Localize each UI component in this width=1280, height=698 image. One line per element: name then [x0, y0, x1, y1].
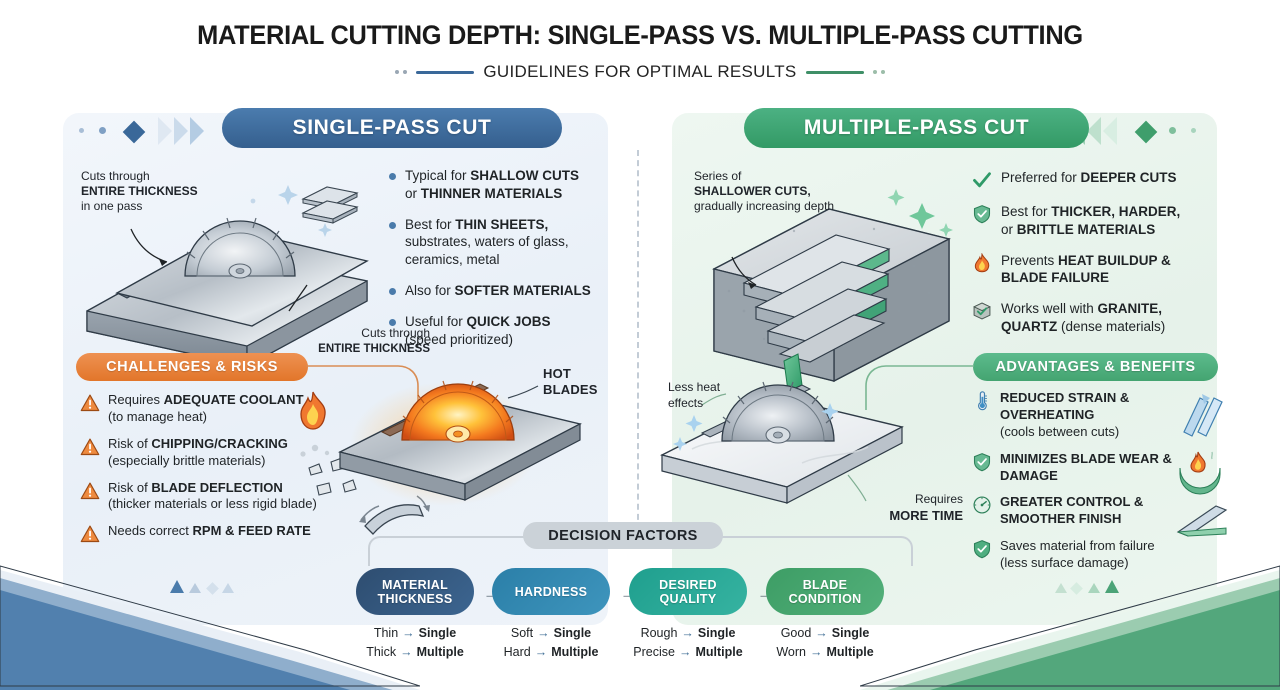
list-item: Typical for SHALLOW CUTS or THINNER MATE… [389, 167, 594, 203]
subtitle-dots-left [395, 70, 407, 74]
shield-check-icon [972, 204, 992, 224]
gauge-icon [972, 495, 992, 515]
factor-pill[interactable]: HARDNESS [492, 568, 610, 615]
subtitle-rule-right [806, 71, 864, 74]
callout-shallower-cuts: Series of SHALLOWER CUTS, gradually incr… [694, 169, 854, 214]
flame-icon [296, 390, 330, 432]
list-item: Best for THICKER, HARDER, or BRITTLE MAT… [972, 203, 1212, 239]
factor-pill[interactable]: BLADE CONDITION [766, 568, 884, 615]
multiple-pass-bullet-list: Preferred for DEEPER CUTS Best for THICK… [972, 169, 1212, 349]
warning-triangle-icon [80, 481, 100, 501]
decision-factor-blade-condition[interactable]: BLADE CONDITION Good→Single Worn→Multipl… [766, 568, 884, 663]
list-item: Useful for QUICK JOBS (speed prioritized… [389, 313, 594, 349]
multiple-pass-header: MULTIPLE-PASS CUT [744, 108, 1089, 148]
triangle-decor-right [1055, 580, 1119, 593]
diamond-decor-right [1135, 121, 1158, 144]
single-pass-bullet-list: Typical for SHALLOW CUTS or THINNER MATE… [389, 167, 594, 362]
dot-decor-left-2 [79, 128, 84, 133]
bullet-dot-icon [389, 288, 396, 295]
factor-rows: Thin→Single Thick→Multiple [356, 624, 474, 663]
bullet-dot-icon [389, 222, 396, 229]
dot-decor-left-1 [99, 127, 106, 134]
shield-check-icon [972, 539, 992, 559]
single-pass-header: SINGLE-PASS CUT [222, 108, 562, 148]
callout-less-heat: Less heat effects [668, 380, 748, 411]
callout-hot-blades: HOT BLADES [543, 366, 623, 399]
bullet-dot-icon [389, 173, 396, 180]
dot-decor-right-1 [1169, 127, 1176, 134]
bullet-dot-icon [389, 319, 396, 326]
subtitle-row: GUIDELINES FOR OPTIMAL RESULTS [0, 62, 1280, 82]
list-item: REDUCED STRAIN & OVERHEATING (cools betw… [972, 390, 1187, 441]
subtitle-dots-right [873, 70, 885, 74]
smooth-finish-icon [1176, 502, 1228, 538]
list-item: Prevents HEAT BUILDUP & BLADE FAILURE [972, 252, 1212, 288]
list-item: Works well with GRANITE, QUARTZ (dense m… [972, 300, 1212, 336]
factor-rows: Good→Single Worn→Multiple [766, 624, 884, 663]
check-mark-icon [972, 170, 992, 190]
decision-factors-block: DECISION FACTORS MATERIAL THICKNESS Thin… [350, 518, 930, 678]
warning-triangle-icon [80, 437, 100, 457]
decision-factor-hardness[interactable]: HARDNESS Soft→Single Hard→Multiple [492, 568, 610, 663]
factor-rows: Soft→Single Hard→Multiple [492, 624, 610, 663]
diamond-decor-left [123, 121, 146, 144]
callout-cuts-through-top: Cuts through ENTIRE THICKNESS in one pas… [81, 169, 211, 214]
cool-blades-icon [1178, 390, 1224, 442]
decision-factor-desired-quality[interactable]: DESIRED QUALITY Rough→Single Precise→Mul… [629, 568, 747, 663]
triangle-decor-left [170, 580, 234, 593]
advantages-benefits-title: ADVANTAGES & BENEFITS [973, 353, 1218, 381]
list-item: GREATER CONTROL & SMOOTHER FINISH [972, 494, 1187, 528]
page-subtitle: GUIDELINES FOR OPTIMAL RESULTS [483, 62, 796, 82]
warning-triangle-icon [80, 393, 100, 413]
warning-triangle-icon [80, 524, 100, 544]
decision-factor-material-thickness[interactable]: MATERIAL THICKNESS Thin→Single Thick→Mul… [356, 568, 474, 663]
challenges-risks-title: CHALLENGES & RISKS [76, 353, 308, 381]
dot-decor-right-2 [1191, 128, 1196, 133]
shield-check-icon [972, 452, 992, 472]
decision-factors-title: DECISION FACTORS [523, 522, 723, 549]
no-overheat-icon [1176, 450, 1224, 496]
center-divider [637, 150, 639, 530]
list-item: MINIMIZES BLADE WEAR & DAMAGE [972, 451, 1187, 485]
advantages-list: REDUCED STRAIN & OVERHEATING (cools betw… [972, 390, 1187, 582]
subtitle-rule-left [416, 71, 474, 74]
factor-rows: Rough→Single Precise→Multiple [629, 624, 747, 663]
list-item: Preferred for DEEPER CUTS [972, 169, 1212, 190]
chevron-decor-left [158, 117, 204, 145]
cube-check-icon [972, 301, 992, 321]
list-item: Best for THIN SHEETS, substrates, waters… [389, 216, 594, 269]
title-block: MATERIAL CUTTING DEPTH: SINGLE-PASS VS. … [0, 20, 1280, 82]
thermometer-icon [972, 391, 992, 411]
flame-icon [972, 253, 992, 273]
factor-pill[interactable]: DESIRED QUALITY [629, 568, 747, 615]
list-item: Also for SOFTER MATERIALS [389, 282, 594, 300]
page-title: MATERIAL CUTTING DEPTH: SINGLE-PASS VS. … [38, 20, 1241, 51]
factor-pill[interactable]: MATERIAL THICKNESS [356, 568, 474, 615]
